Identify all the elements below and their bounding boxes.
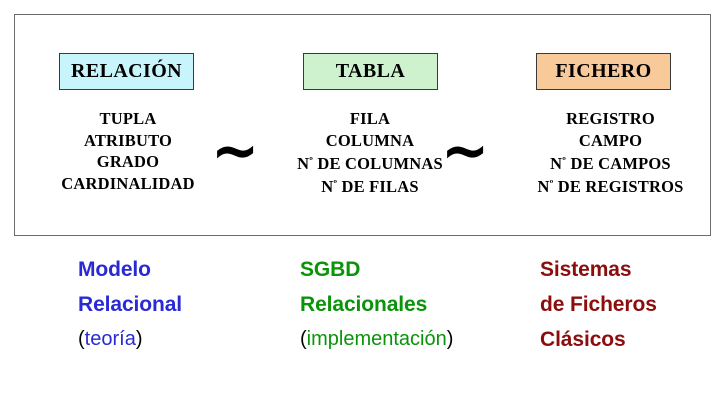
- concept-box-relacion: RELACIÓN: [59, 53, 194, 90]
- concept-box-fichero: FICHERO: [536, 53, 671, 90]
- term-ordinal-rest: DE COLUMNAS: [313, 154, 443, 173]
- caption-line: Modelo: [78, 252, 182, 287]
- diagram-frame: RELACIÓN TABLA FICHERO TUPLA ATRIBUTO GR…: [14, 14, 711, 236]
- caption-note-open-paren: (: [300, 328, 307, 350]
- caption-note: (teoría): [78, 322, 182, 357]
- term-ordinal-letter: N: [537, 177, 549, 196]
- term-item: REGISTRO: [495, 108, 726, 130]
- term-item: GRADO: [15, 151, 241, 173]
- term-item: Nº DE REGISTROS: [495, 174, 726, 197]
- concept-label-relacion: RELACIÓN: [71, 60, 182, 83]
- term-ordinal-letter: N: [297, 154, 309, 173]
- caption-column-sgbd: SGBD Relacionales (implementación): [300, 252, 453, 357]
- caption-column-ficheros: Sistemas de Ficheros Clásicos: [540, 252, 657, 357]
- term-ordinal-rest: DE FILAS: [337, 177, 419, 196]
- concept-box-tabla: TABLA: [303, 53, 438, 90]
- term-column-relacion: TUPLA ATRIBUTO GRADO CARDINALIDAD: [15, 108, 241, 194]
- term-item: Nº DE CAMPOS: [495, 151, 726, 174]
- caption-note-open-paren: (: [78, 328, 85, 350]
- caption-note-close-paren: ): [447, 328, 454, 350]
- caption-line: Sistemas: [540, 252, 657, 287]
- term-item: TUPLA: [15, 108, 241, 130]
- caption-note: (implementación): [300, 322, 453, 357]
- caption-column-relacional: Modelo Relacional (teoría): [78, 252, 182, 357]
- term-ordinal-letter: N: [321, 177, 333, 196]
- caption-note-close-paren: ): [136, 328, 143, 350]
- term-item: CAMPO: [495, 130, 726, 152]
- caption-note-text: implementación: [307, 328, 447, 350]
- caption-line: SGBD: [300, 252, 453, 287]
- concept-label-fichero: FICHERO: [555, 60, 651, 83]
- caption-line: Relacionales: [300, 287, 453, 322]
- caption-line: Relacional: [78, 287, 182, 322]
- caption-note-text: teoría: [85, 328, 136, 350]
- caption-line: Clásicos: [540, 322, 657, 357]
- concept-label-tabla: TABLA: [336, 60, 405, 83]
- caption-line: de Ficheros: [540, 287, 657, 322]
- term-ordinal-rest: DE REGISTROS: [553, 177, 683, 196]
- term-item: CARDINALIDAD: [15, 173, 241, 195]
- equivalence-tilde-icon: ∼: [441, 119, 489, 181]
- equivalence-tilde-icon: ∼: [211, 119, 259, 181]
- term-column-fichero: REGISTRO CAMPO Nº DE CAMPOS Nº DE REGIST…: [495, 108, 726, 198]
- term-ordinal-rest: DE CAMPOS: [566, 154, 671, 173]
- term-item: ATRIBUTO: [15, 130, 241, 152]
- term-ordinal-letter: N: [550, 154, 562, 173]
